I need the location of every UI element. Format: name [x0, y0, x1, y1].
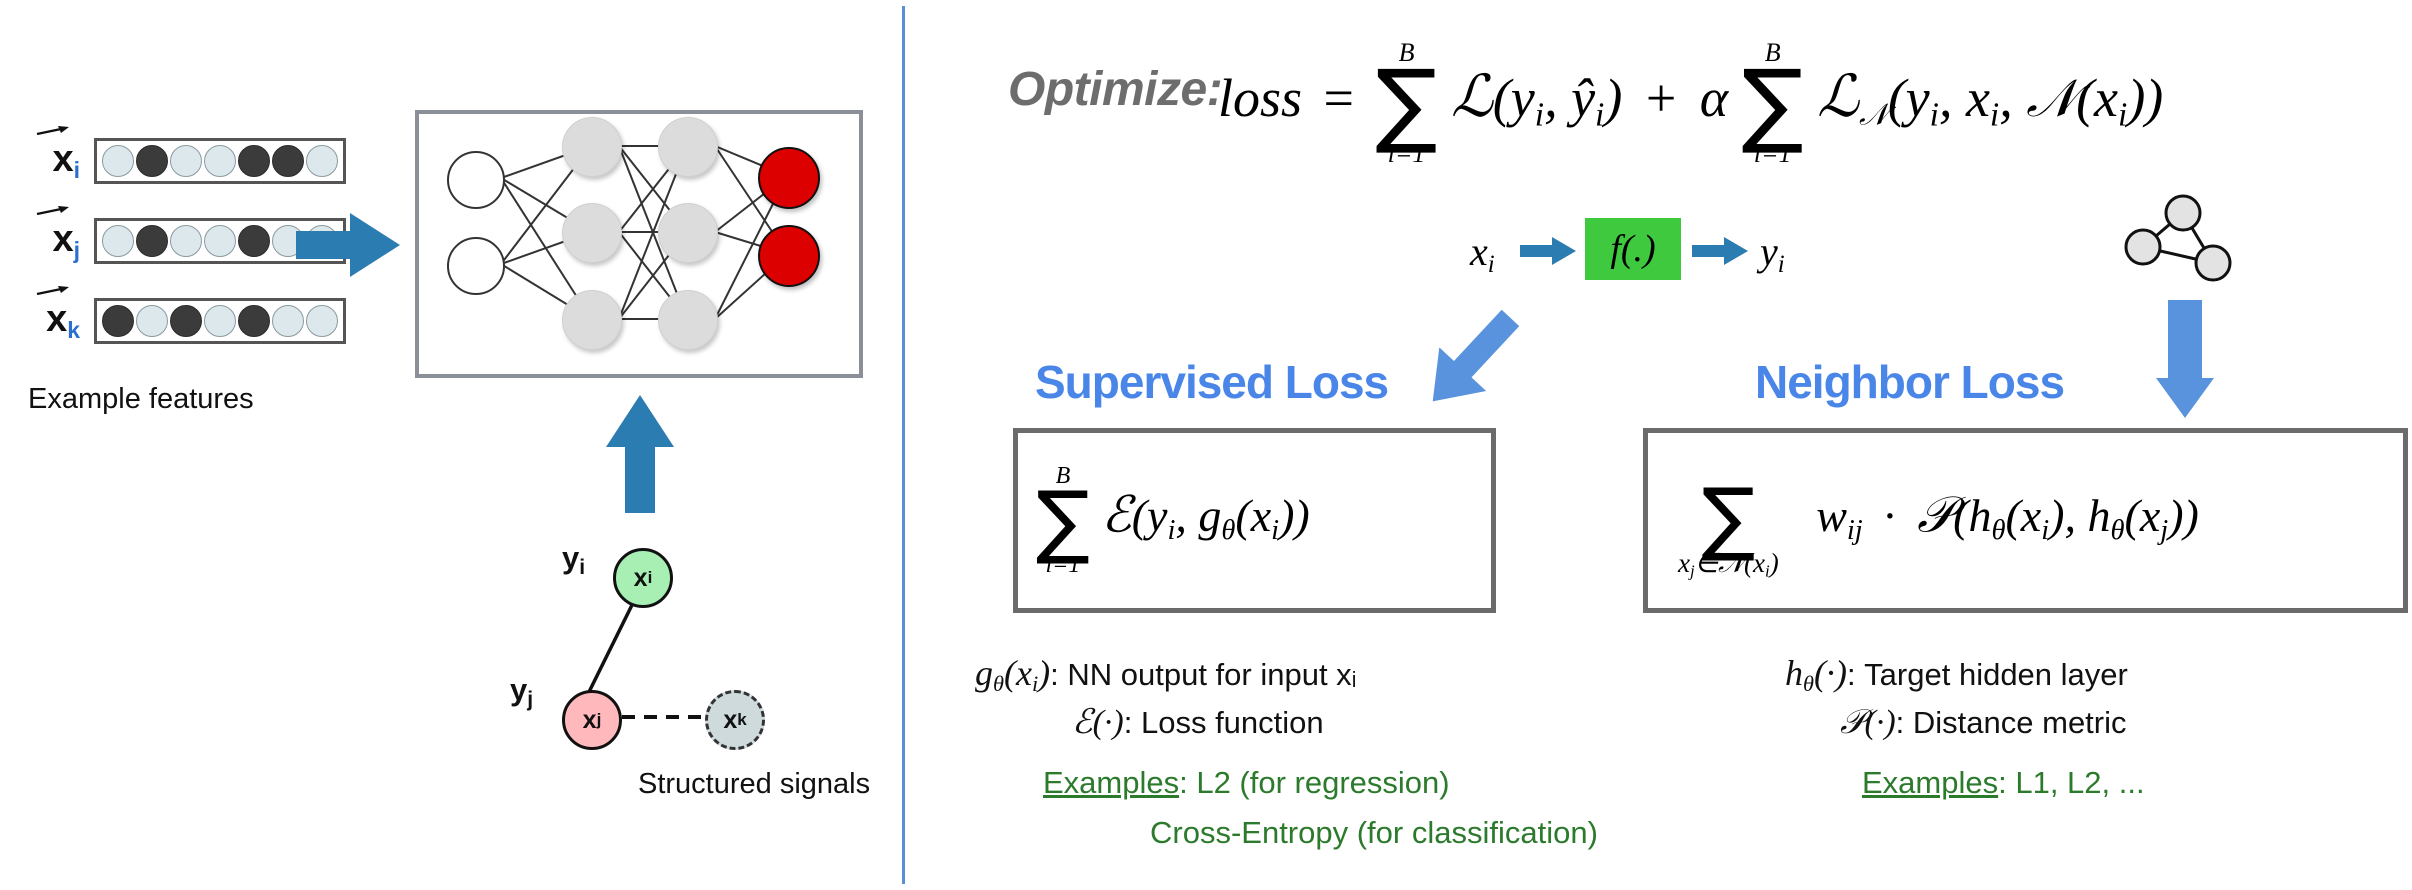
feature-cell — [306, 305, 338, 337]
feature-cell — [170, 305, 202, 337]
neighbor-loss-formula: ∑ xj∈𝒩(xi) wij · 𝒫(hθ(xi), hθ(xj)) — [1678, 461, 2199, 581]
feature-vector-row-i: xi — [14, 138, 346, 184]
feature-cell — [272, 145, 304, 177]
neighbor-legend-line-2: 𝒫(·): Distance metric — [1840, 702, 2127, 742]
feature-cell — [102, 225, 134, 257]
feature-cell — [170, 225, 202, 257]
neighbor-loss-formula-box: ∑ xj∈𝒩(xi) wij · 𝒫(hθ(xi), hθ(xj)) — [1643, 428, 2408, 613]
network-output-node — [758, 147, 820, 209]
vector-arrow-icon — [36, 285, 70, 299]
graph-node-xj: xj — [562, 690, 622, 750]
pipeline-arrow-out-icon — [1692, 236, 1750, 266]
supervised-examples-line-1: Examples: L2 (for regression) — [1043, 765, 1450, 801]
pipeline-input-label: xi — [1470, 228, 1495, 279]
network-hidden-node — [562, 290, 622, 350]
feature-cell — [204, 305, 236, 337]
vector-label-k: xk — [14, 298, 94, 344]
network-hidden-node — [658, 203, 718, 263]
network-output-node — [758, 225, 820, 287]
feature-cell — [238, 305, 270, 337]
neighbor-loss-arrow-icon — [2155, 300, 2215, 420]
supervised-legend-text-2: : Loss function — [1124, 705, 1324, 740]
neighbor-examples-label: Examples — [1862, 765, 1998, 800]
supervised-legend-text-1: : NN output for input xᵢ — [1050, 657, 1356, 692]
structured-signals-caption: Structured signals — [638, 768, 870, 801]
feature-cell — [136, 305, 168, 337]
network-input-node — [447, 151, 505, 209]
supervised-loss-arrow-icon — [1415, 296, 1545, 426]
neighbor-legend-line-1: hθ(·): Target hidden layer — [1785, 652, 2128, 697]
feature-cell — [238, 225, 270, 257]
supervised-examples-line-2: Cross-Entropy (for classification) — [1150, 815, 1598, 851]
graph-label-yi: yi — [562, 540, 585, 580]
neural-network-panel — [415, 110, 863, 378]
supervised-legend-line-2: ℰ(·): Loss function — [1072, 702, 1324, 742]
feature-cell — [306, 145, 338, 177]
supervised-examples-text-1: : L2 (for regression) — [1179, 765, 1450, 800]
network-hidden-node — [562, 203, 622, 263]
vector-label-j: xj — [14, 218, 94, 264]
network-hidden-node — [658, 117, 718, 177]
main-loss-equation: loss = B∑i=1 ℒ(yi, ŷi) + α B∑i=1 ℒ𝒩(yi, … — [1218, 40, 2163, 167]
supervised-loss-formula: B∑i=1 ℰ(yi, gθ(xi)) — [1036, 464, 1310, 578]
supervised-loss-heading: Supervised Loss — [1035, 355, 1388, 409]
signals-to-network-arrow-icon — [600, 395, 680, 515]
neighbor-examples-line-1: Examples: L1, L2, ... — [1862, 765, 2145, 801]
feature-vector-box-k — [94, 298, 346, 344]
structured-signals-graph: xi xj xk yi yj — [500, 520, 840, 760]
feature-cell — [102, 305, 134, 337]
supervised-legend-line-1: gθ(xi): NN output for input xᵢ — [975, 652, 1357, 697]
feature-cell — [136, 145, 168, 177]
feature-vector-box-i — [94, 138, 346, 184]
network-hidden-node — [562, 117, 622, 177]
vector-label-i: xi — [14, 138, 94, 184]
neighbor-legend-text-2: : Distance metric — [1896, 705, 2127, 740]
neighbor-legend-text-1: : Target hidden layer — [1847, 657, 2128, 692]
feature-cell — [272, 305, 304, 337]
graph-node-xk: xk — [705, 690, 765, 750]
feature-cell — [170, 145, 202, 177]
function-box: f(.) — [1585, 218, 1681, 280]
graph-node-xi: xi — [613, 548, 673, 608]
feature-cell — [204, 145, 236, 177]
function-box-label: f(.) — [1610, 227, 1655, 271]
feature-cell — [238, 145, 270, 177]
pipeline-arrow-in-icon — [1520, 236, 1578, 266]
example-features-caption: Example features — [28, 383, 254, 416]
feature-vector-row-k: xk — [14, 298, 346, 344]
graph-edge-solid — [586, 605, 632, 698]
network-input-node — [447, 237, 505, 295]
feature-cell — [136, 225, 168, 257]
features-to-network-arrow-icon — [296, 205, 406, 285]
graph-triangle-icon — [2115, 175, 2245, 295]
vector-arrow-icon — [36, 205, 70, 219]
optimize-label: Optimize: — [1008, 62, 1222, 117]
neighbor-examples-text-1: : L1, L2, ... — [1998, 765, 2144, 800]
pipeline-output-label: yi — [1760, 228, 1785, 279]
graph-label-yj: yj — [510, 672, 533, 712]
graph-edges — [500, 520, 840, 740]
summation-2: B∑i=1 — [1742, 40, 1804, 167]
vector-arrow-icon — [36, 125, 70, 139]
feature-cell — [102, 145, 134, 177]
supervised-examples-label: Examples — [1043, 765, 1179, 800]
feature-cell — [204, 225, 236, 257]
supervised-loss-formula-box: B∑i=1 ℰ(yi, gθ(xi)) — [1013, 428, 1496, 613]
panel-divider — [902, 6, 905, 884]
summation-1: B∑i=1 — [1376, 40, 1438, 167]
network-hidden-node — [658, 290, 718, 350]
neighbor-loss-heading: Neighbor Loss — [1755, 355, 2064, 409]
